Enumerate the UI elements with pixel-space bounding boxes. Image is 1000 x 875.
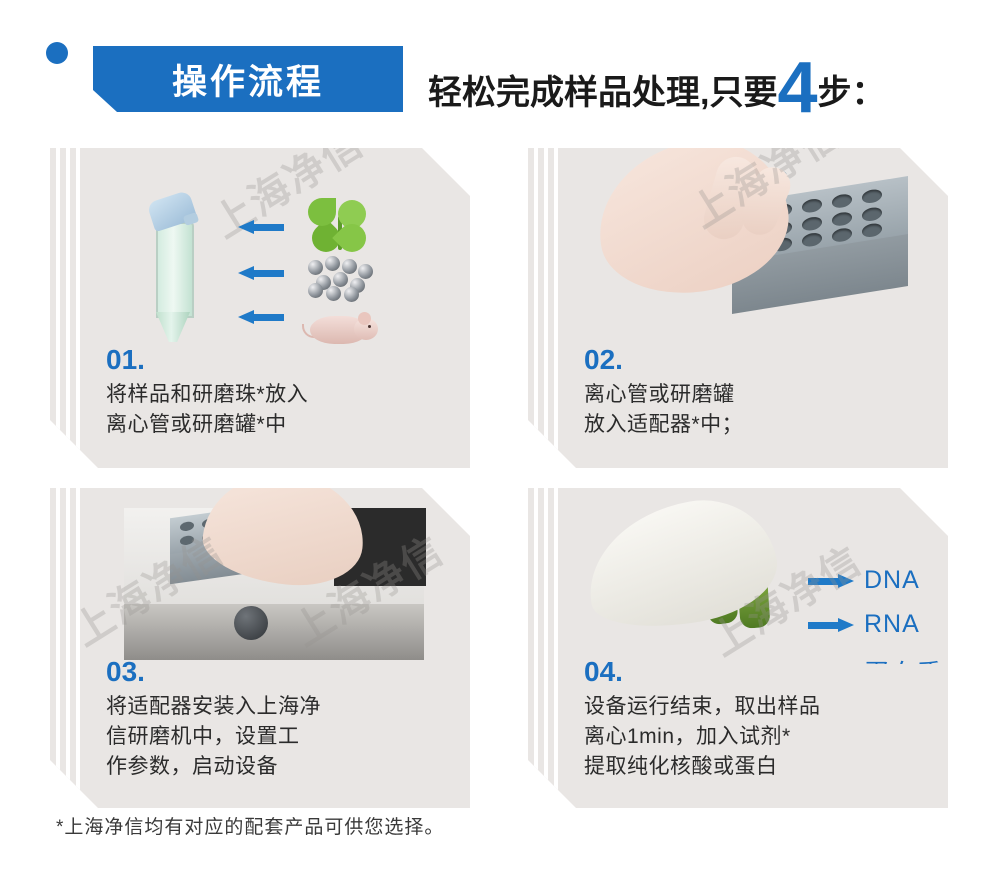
arrow-right-icon — [808, 574, 854, 588]
step-text-02: 离心管或研磨罐 放入适配器*中； — [584, 380, 743, 440]
result-row-dna: DNA — [808, 566, 920, 595]
card-stripes-decoration — [50, 148, 84, 468]
step-number-03: 03. — [106, 656, 145, 688]
grinding-beads-icon — [306, 256, 374, 298]
step-card-04: DNA RNA 蛋白质 上海净信 04. 设备运行结束，取出样品 离心1min，… — [528, 488, 948, 808]
header-dot-icon — [46, 42, 68, 64]
result-label-rna: RNA — [864, 610, 920, 639]
leaf-icon — [308, 198, 372, 254]
result-row-protein: 蛋白质 — [808, 654, 942, 664]
step-card-01: 上海净信 01. 将样品和研磨珠*放入 离心管或研磨罐*中 — [50, 148, 470, 468]
headline-part2: 步： — [818, 65, 886, 114]
step-text-01: 将样品和研磨珠*放入 离心管或研磨罐*中 — [106, 380, 308, 440]
headline-part1: 轻松完成样品处理,只要 — [428, 65, 777, 114]
step-photo-02 — [562, 148, 948, 348]
headline-number: 4 — [777, 52, 817, 124]
step-text-04: 设备运行结束，取出样品 离心1min，加入试剂* 提取纯化核酸或蛋白 — [584, 692, 821, 781]
step-number-01: 01. — [106, 344, 145, 376]
headline: 轻松完成样品处理,只要 4 步： — [428, 44, 886, 116]
step-text-03: 将适配器安装入上海净 信研磨机中，设置工 作参数，启动设备 — [106, 692, 321, 781]
card-stripes-decoration — [528, 148, 562, 468]
card-stripes-decoration — [50, 488, 84, 808]
arrow-left-icon-1 — [238, 220, 284, 234]
result-row-rna: RNA — [808, 610, 920, 639]
result-label-protein: 蛋白质 — [864, 654, 942, 664]
section-banner: 操作流程 — [93, 46, 403, 112]
arrow-left-icon-2 — [238, 266, 284, 280]
step-photo-03 — [84, 488, 470, 664]
arrow-left-icon-3 — [238, 310, 284, 324]
arrow-right-icon — [808, 618, 854, 632]
page-header: 操作流程 轻松完成样品处理,只要 4 步： — [0, 0, 1000, 130]
centrifuge-tube-icon — [150, 188, 196, 338]
footnote: *上海净信均有对应的配套产品可供您选择。 — [56, 812, 444, 839]
card-stripes-decoration — [528, 488, 562, 808]
mouse-icon — [302, 304, 380, 350]
result-label-dna: DNA — [864, 566, 920, 595]
step-card-02: 上海净信 02. 离心管或研磨罐 放入适配器*中； — [528, 148, 948, 468]
step-number-02: 02. — [584, 344, 623, 376]
step-card-03: 上海净信 上海净信 03. 将适配器安装入上海净 信研磨机中，设置工 作参数，启… — [50, 488, 470, 808]
machine-knob — [234, 606, 268, 640]
step-photo-04: DNA RNA 蛋白质 — [562, 488, 948, 664]
section-banner-label: 操作流程 — [93, 46, 403, 112]
step-number-04: 04. — [584, 656, 623, 688]
